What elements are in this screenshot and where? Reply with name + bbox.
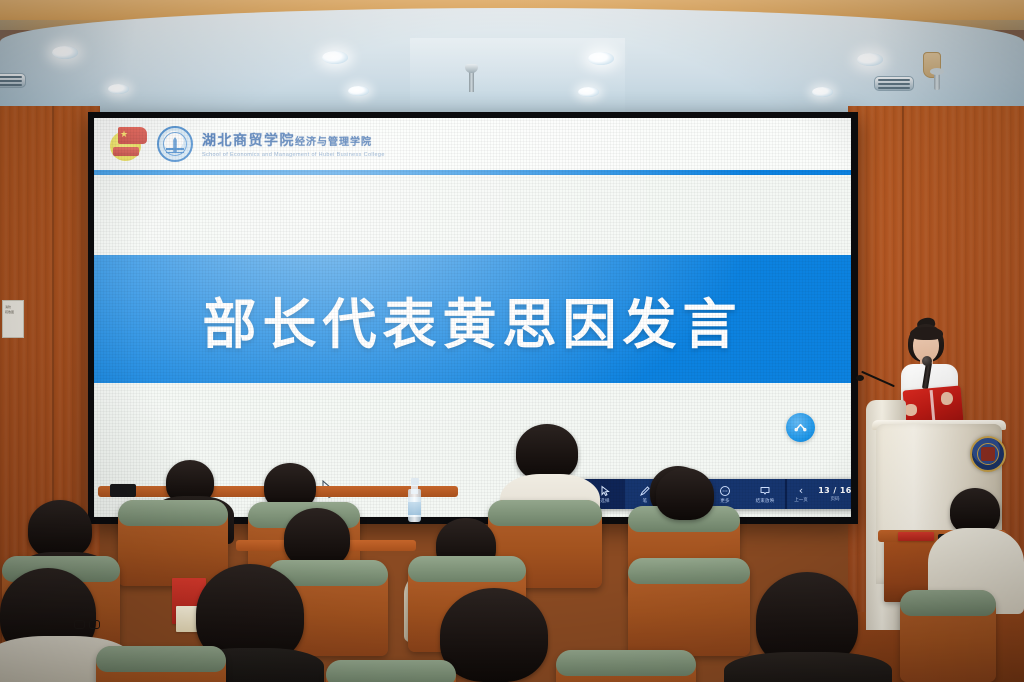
mini-pendant-icon [469,70,474,92]
recessed-downlight [348,86,369,96]
chair [96,646,226,682]
page-counter: 13 / 16 [818,486,851,495]
recessed-downlight [588,52,614,65]
school-name-line: 湖北商贸学院经济与管理学院 [202,130,385,150]
slide-title: 部长代表黄思因发言 [203,280,743,359]
slide-header: ★ 湖北商贸学院经济与管理学院 School of Economics and … [94,118,851,170]
attendee-head [656,468,714,520]
recessed-downlight [578,87,599,97]
toolbar-nav-group: ‹ 上一页 13 / 16 页码 › 下一页 [787,479,851,509]
eyeglasses-icon [74,620,100,629]
recessed-downlight [322,51,348,64]
school-dept-cn: 经济与管理学院 [295,137,372,148]
projection-screen-frame: ★ 湖北商贸学院经济与管理学院 School of Economics and … [88,112,858,524]
media-play-icon[interactable] [786,413,815,442]
chair [326,660,456,682]
page-indicator[interactable]: 13 / 16 页码 [815,479,851,509]
pen-tool-label: 笔 [643,498,648,504]
ceiling-shadow-left [0,20,180,120]
attendee-body [724,652,892,682]
recessed-downlight [812,87,833,97]
end-show-tool-label: 结束放映 [756,498,775,504]
recessed-downlight [857,53,883,66]
recessed-downlight [108,84,129,94]
school-name-en: School of Economics and Management of Hu… [202,152,385,158]
prev-page-button[interactable]: ‹ 上一页 [787,479,815,509]
water-bottle [408,478,421,522]
slide-header-text: 湖北商贸学院经济与管理学院 School of Economics and Ma… [202,130,385,158]
chair [628,558,750,656]
chair [118,500,228,586]
lecture-hall-photo: 消防 疏散图 ★ 湖北商贸学院经济与管理学院 [0,0,1024,682]
select-tool-label: 选择 [600,498,609,504]
red-booklet [898,532,934,541]
wall-sign-line2: 疏散图 [5,310,21,315]
podium-seal-icon [970,436,1006,472]
prev-page-label: 上一页 [794,497,808,503]
chair [556,650,696,682]
hubei-business-college-seal-icon [157,126,193,162]
recessed-downlight [52,46,78,59]
school-name-cn: 湖北商贸学院 [202,133,295,149]
air-vent-icon [874,76,914,91]
attendee-head [284,508,350,568]
chair [900,590,996,682]
device-on-desk [110,484,136,497]
sprinkler-stem-icon [934,72,940,90]
more-tool-label: 更多 [720,498,729,504]
air-vent-icon [0,73,26,88]
slide-body: 部长代表黄思因发言 [94,175,851,517]
end-show-tool-button[interactable]: 结束放映 [745,479,785,509]
attendee-head [516,424,578,480]
wall-notice-sign: 消防 疏散图 [2,300,24,338]
projection-screen[interactable]: ★ 湖北商贸学院经济与管理学院 School of Economics and … [94,118,851,517]
chevron-left-icon: ‹ [799,486,803,496]
slide-title-band: 部长代表黄思因发言 [94,255,851,383]
ceiling-panel [410,38,625,116]
communist-youth-league-emblem-icon: ★ [108,126,148,162]
page-indicator-label: 页码 [831,496,840,502]
attendee-head [28,500,92,558]
attendee-head [440,588,548,682]
